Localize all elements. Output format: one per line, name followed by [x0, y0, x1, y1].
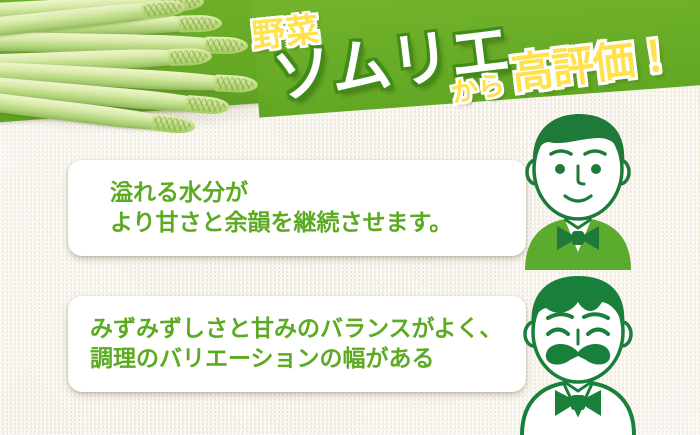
testimonial-bubble-2: みずみずしさと甘みのバランスがよく、 調理のバリエーションの幅がある	[68, 296, 526, 392]
testimonial-1-line-2: より甘さと余韻を継続させます。	[110, 208, 526, 238]
testimonial-2-line-1: みずみずしさと甘みのバランスがよく、	[90, 314, 526, 344]
sommelier-avatar-2	[498, 272, 658, 435]
asparagus-tip	[168, 48, 213, 67]
asparagus-tip	[178, 15, 222, 33]
promo-banner: 野菜 ソムリエ から 高評価！ 溢れる水分が より甘さと余韻を継続させます。	[0, 0, 700, 435]
sommelier-man-dark-hair-icon	[503, 112, 653, 270]
testimonial-bubble-1: 溢れる水分が より甘さと余韻を継続させます。	[68, 160, 526, 256]
sommelier-man-mustache-icon	[498, 272, 658, 435]
testimonial-1-line-1: 溢れる水分が	[110, 178, 526, 208]
asparagus-tip	[204, 37, 248, 55]
sommelier-avatar-1	[503, 112, 653, 270]
testimonial-2-line-2: 調理のバリエーションの幅がある	[90, 344, 526, 374]
